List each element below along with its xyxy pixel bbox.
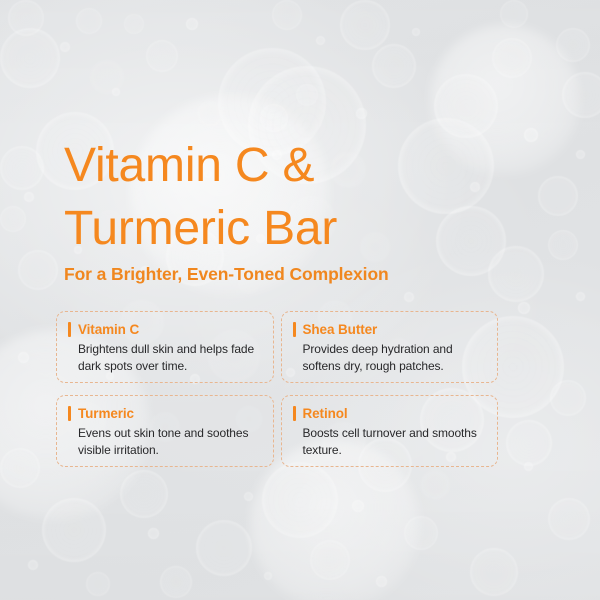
accent-bar-icon [293, 322, 296, 337]
accent-bar-icon [293, 406, 296, 421]
card-body-text: Evens out skin tone and soothes visible … [78, 425, 263, 458]
ingredient-card-vitamin-c: Vitamin C Brightens dull skin and helps … [56, 311, 274, 383]
card-title: Shea Butter [303, 322, 378, 337]
card-title: Vitamin C [78, 322, 139, 337]
card-body-text: Boosts cell turnover and smooths texture… [303, 425, 488, 458]
page-subtitle: For a Brighter, Even-Toned Complexion [64, 264, 389, 285]
card-header: Vitamin C [68, 320, 263, 339]
card-header: Retinol [293, 404, 488, 423]
accent-bar-icon [68, 406, 71, 421]
ingredient-card-shea-butter: Shea Butter Provides deep hydration and … [281, 311, 499, 383]
ingredient-card-retinol: Retinol Boosts cell turnover and smooths… [281, 395, 499, 467]
poster-canvas: Vitamin C & Turmeric Bar For a Brighter,… [0, 0, 600, 600]
card-header: Turmeric [68, 404, 263, 423]
card-header: Shea Butter [293, 320, 488, 339]
card-body-text: Provides deep hydration and softens dry,… [303, 341, 488, 374]
ingredient-card-turmeric: Turmeric Evens out skin tone and soothes… [56, 395, 274, 467]
page-title: Vitamin C & Turmeric Bar [64, 134, 484, 260]
card-body-text: Brightens dull skin and helps fade dark … [78, 341, 263, 374]
accent-bar-icon [68, 322, 71, 337]
card-title: Turmeric [78, 406, 134, 421]
ingredient-card-grid: Vitamin C Brightens dull skin and helps … [56, 311, 498, 467]
card-title: Retinol [303, 406, 348, 421]
headline-line-2: Turmeric Bar [64, 197, 484, 260]
headline-line-1: Vitamin C & [64, 134, 484, 197]
poster-content: Vitamin C & Turmeric Bar For a Brighter,… [0, 0, 600, 600]
